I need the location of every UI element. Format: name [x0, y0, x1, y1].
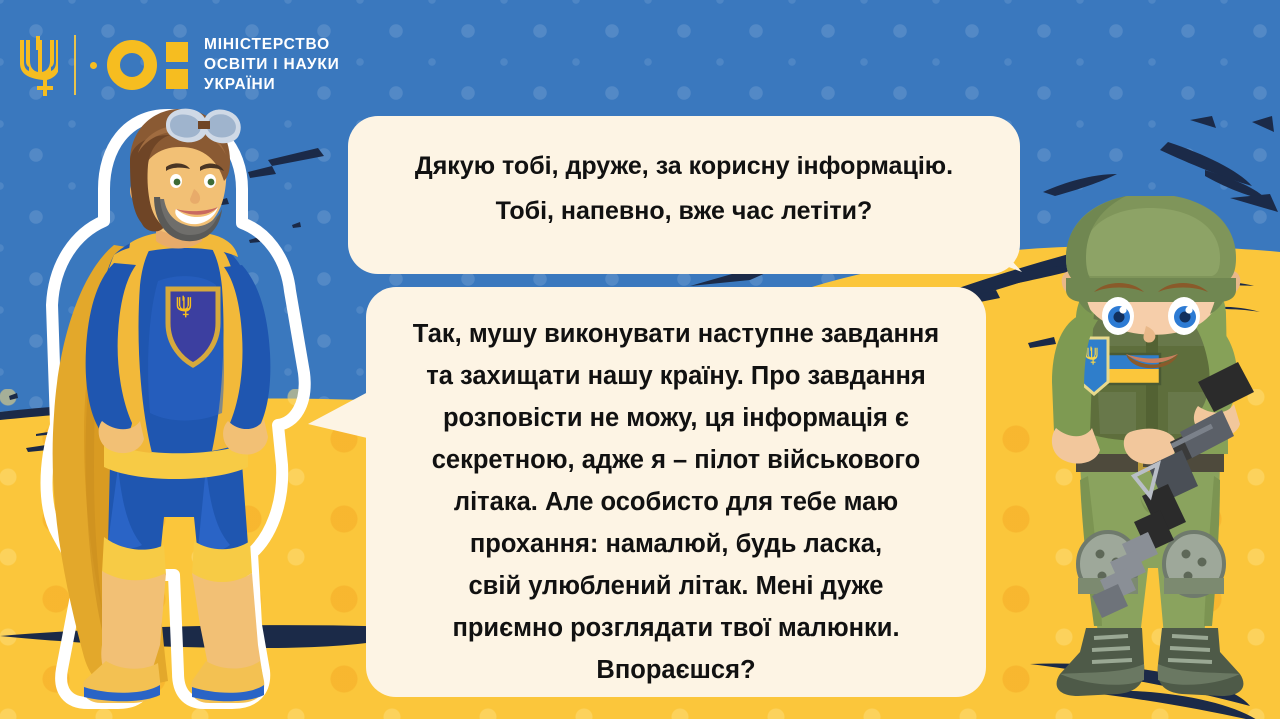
bubble-2-line-1: Так, мушу виконувати наступне завдання	[390, 313, 962, 355]
logo-text-block: МІНІСТЕРСТВО ОСВІТИ І НАУКИ УКРАЇНИ	[204, 35, 340, 95]
speech-bubble-soldier[interactable]: Так, мушу виконувати наступне завдання т…	[366, 287, 986, 697]
bubble-2-line-7: свій улюблений літак. Мені дуже	[390, 565, 962, 607]
logo-dot	[90, 62, 97, 69]
logo-text-line-2: ОСВІТИ І НАУКИ	[204, 55, 340, 75]
bubble-2-line-2: та захищати нашу країну. Про завдання	[390, 355, 962, 397]
logo-ring-icon	[107, 40, 157, 90]
mon-logo: МІНІСТЕРСТВО ОСВІТИ І НАУКИ УКРАЇНИ	[18, 26, 340, 104]
logo-text-line-1: МІНІСТЕРСТВО	[204, 35, 340, 55]
logo-colon-squares	[166, 42, 188, 89]
speech-bubble-soldier-text: Так, мушу виконувати наступне завдання т…	[366, 287, 986, 691]
speech-bubble-superhero-text: Дякую тобі, друже, за корисну інформацію…	[348, 116, 1020, 234]
bubble-2-line-6: прохання: намалюй, будь ласка,	[390, 523, 962, 565]
superhero-pilot-character	[18, 105, 338, 719]
logo-square-top	[166, 42, 188, 62]
bubble-1-line-1: Дякую тобі, друже, за корисну інформацію…	[382, 144, 986, 189]
bubble-2-line-5: літака. Але особисто для тебе маю	[390, 481, 962, 523]
mon-o-colon-mark	[107, 40, 188, 90]
bubble-1-line-2: Тобі, напевно, вже час летіти?	[382, 189, 986, 234]
logo-text-line-3: УКРАЇНИ	[204, 75, 340, 95]
bubble-2-line-3: розповісти не можу, ця інформація є	[390, 397, 962, 439]
slide-canvas: МІНІСТЕРСТВО ОСВІТИ І НАУКИ УКРАЇНИ	[0, 0, 1280, 719]
logo-divider	[74, 35, 76, 95]
bubble-2-line-4: секретною, адже я – пілот військового	[390, 439, 962, 481]
soldier-character	[1022, 196, 1280, 719]
speech-bubble-superhero[interactable]: Дякую тобі, друже, за корисну інформацію…	[348, 116, 1020, 274]
bubble-2-line-9: Впораєшся?	[390, 649, 962, 691]
bubble-2-line-8: приємно розглядати твої малюнки.	[390, 607, 962, 649]
ukrainian-trident-icon	[18, 34, 58, 96]
logo-square-bottom	[166, 69, 188, 89]
